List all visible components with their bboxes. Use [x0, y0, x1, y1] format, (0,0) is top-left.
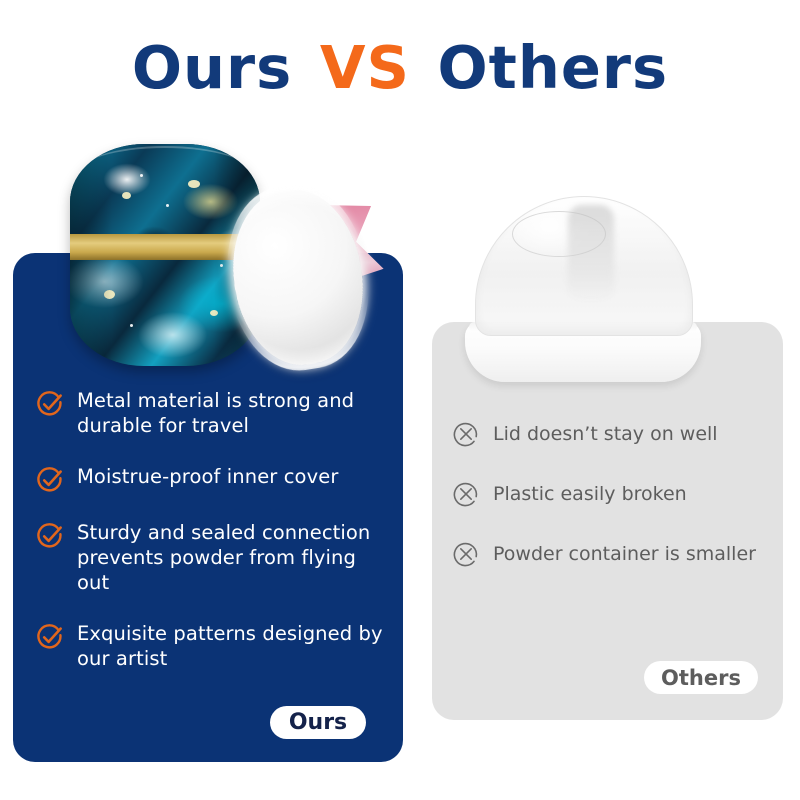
clear-dome-lid-icon	[475, 196, 693, 336]
others-feature-list: Lid doesn’t stay on well Plastic easily …	[452, 420, 782, 568]
list-item-label: Lid doesn’t stay on well	[493, 422, 718, 446]
list-item-label: Metal material is strong and durable for…	[77, 388, 386, 438]
list-item-label: Sturdy and sealed connection prevents po…	[77, 520, 386, 595]
title-vs: VS	[320, 33, 410, 102]
white-speck	[166, 204, 169, 207]
list-item: Lid doesn’t stay on well	[452, 420, 782, 448]
check-circle-icon	[36, 623, 64, 651]
others-product-image	[455, 196, 711, 384]
list-item-label: Powder container is smaller	[493, 542, 756, 566]
dome-gloss	[568, 205, 614, 301]
list-item: Powder container is smaller	[452, 540, 782, 568]
jar-lid-seam	[76, 146, 254, 204]
ours-product-image	[62, 138, 402, 390]
page-title: Ours VS Others	[0, 33, 800, 102]
list-item: Sturdy and sealed connection prevents po…	[36, 520, 386, 595]
check-circle-icon	[36, 390, 64, 418]
list-item-label: Exquisite patterns designed by our artis…	[77, 621, 386, 671]
x-circle-icon	[452, 540, 480, 568]
x-circle-icon	[452, 420, 480, 448]
ours-badge: Ours	[270, 706, 366, 739]
list-item: Moistrue-proof inner cover	[36, 464, 386, 494]
list-item: Plastic easily broken	[452, 480, 782, 508]
title-others: Others	[438, 33, 669, 102]
others-badge: Others	[644, 661, 758, 694]
check-circle-icon	[36, 522, 64, 550]
white-speck	[130, 324, 133, 327]
list-item: Metal material is strong and durable for…	[36, 388, 386, 438]
title-ours: Ours	[132, 33, 292, 102]
x-circle-icon	[452, 480, 480, 508]
list-item: Exquisite patterns designed by our artis…	[36, 621, 386, 671]
list-item-label: Plastic easily broken	[493, 482, 687, 506]
ours-feature-list: Metal material is strong and durable for…	[36, 388, 386, 671]
check-circle-icon	[36, 466, 64, 494]
list-item-label: Moistrue-proof inner cover	[77, 464, 338, 489]
comparison-infographic: Ours VS Others	[0, 0, 800, 800]
